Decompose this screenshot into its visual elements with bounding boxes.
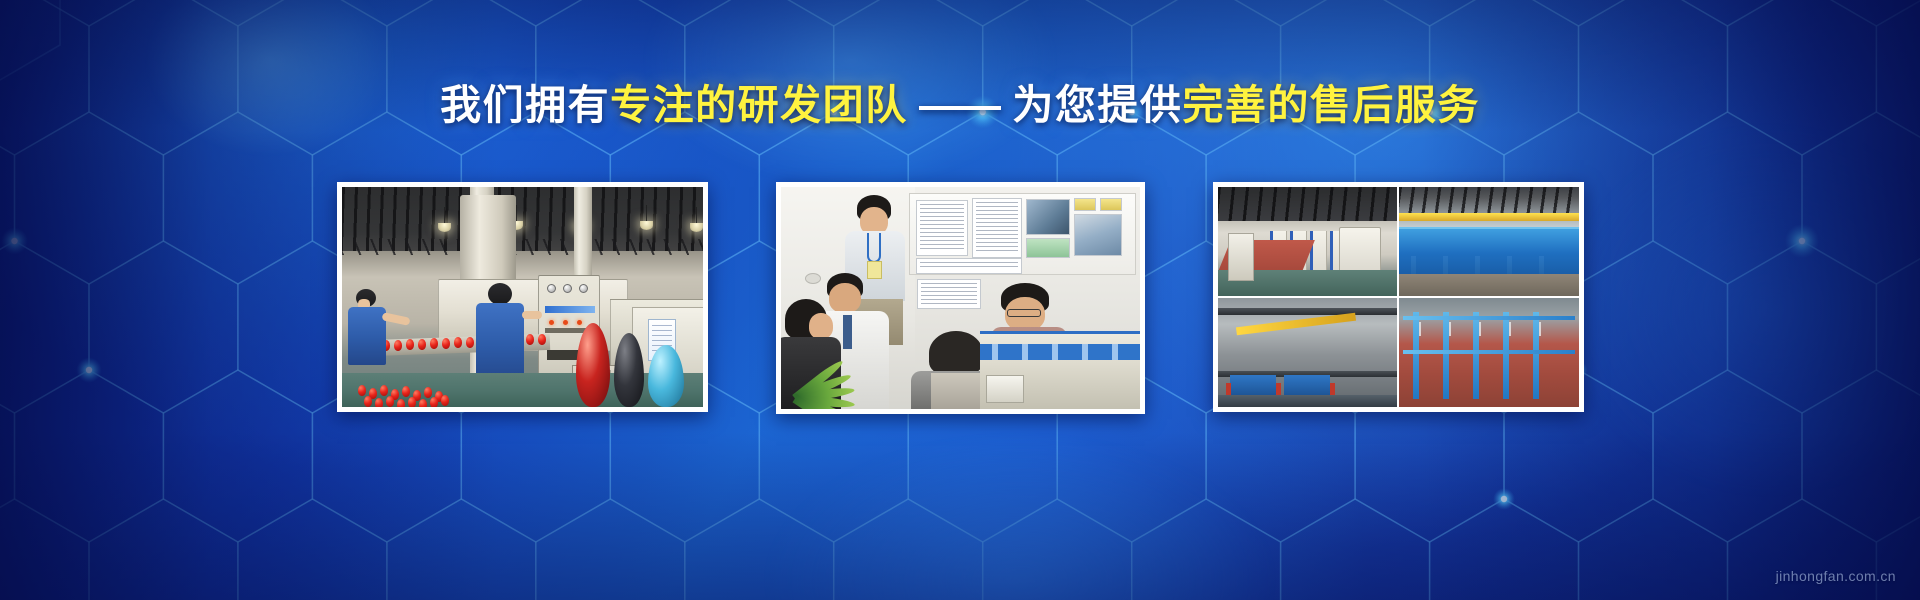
worker-figure xyxy=(476,303,524,383)
photo-gallery xyxy=(0,182,1920,412)
headline-segment-dash: —— xyxy=(908,82,1013,128)
product-vase-red xyxy=(576,323,610,407)
equipment-photo-inset xyxy=(980,331,1140,409)
palm-plant xyxy=(781,337,877,409)
wall-poster xyxy=(917,279,981,309)
photo-frame-3[interactable] xyxy=(1213,182,1584,412)
page-title: 我们拥有专注的研发团队 —— 为您提供完善的售后服务 xyxy=(0,85,1920,126)
photo-frame-1[interactable] xyxy=(337,182,708,412)
photo-frame-2[interactable] xyxy=(776,182,1145,414)
collage-cell-bottom-right xyxy=(1399,298,1579,407)
headline-segment-3: 为您提供 xyxy=(1012,82,1182,128)
glow-accent-top-left xyxy=(140,0,400,160)
collage-cell-top-left xyxy=(1218,187,1398,296)
glow-accent-bottom-center xyxy=(760,430,1280,600)
photo-2-meeting xyxy=(781,187,1140,409)
headline-segment-2: 专注的研发团队 xyxy=(610,82,908,128)
ceiling-lamp-icon xyxy=(438,223,451,232)
collage-cell-bottom-left xyxy=(1218,298,1398,407)
headline-segment-4: 完善的售后服务 xyxy=(1182,82,1480,128)
worker-head xyxy=(488,283,512,305)
headline-segment-1: 我们拥有 xyxy=(440,82,610,128)
promo-banner: 我们拥有专注的研发团队 —— 为您提供完善的售后服务 xyxy=(0,0,1920,600)
product-vase-black xyxy=(614,333,644,407)
ceiling-lamp-icon xyxy=(690,223,703,232)
worker-figure xyxy=(348,307,386,365)
photo-3-equipment-collage xyxy=(1218,187,1579,407)
product-vase-cyan xyxy=(648,345,684,407)
collage-cell-top-right xyxy=(1399,187,1579,296)
ceiling-lamp-icon xyxy=(640,221,653,230)
site-watermark: jinhongfan.com.cn xyxy=(1776,568,1896,584)
photo-1-workshop xyxy=(342,187,703,407)
